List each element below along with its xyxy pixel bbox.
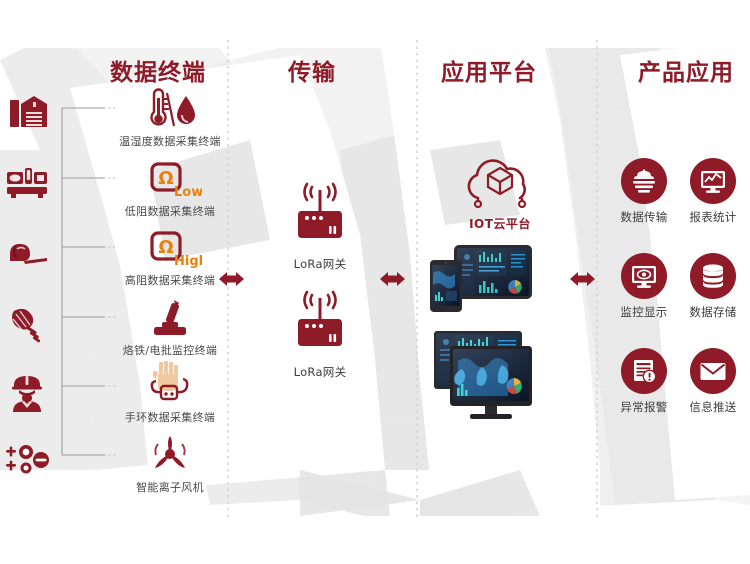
diagram-canvas: 数据终端 传输 应用平台 产品应用 [0, 0, 750, 564]
flow-arrows [0, 0, 750, 564]
bidirectional-arrow-icon [219, 272, 244, 286]
bidirectional-arrow-icon [380, 272, 405, 286]
bidirectional-arrow-icon [570, 272, 595, 286]
